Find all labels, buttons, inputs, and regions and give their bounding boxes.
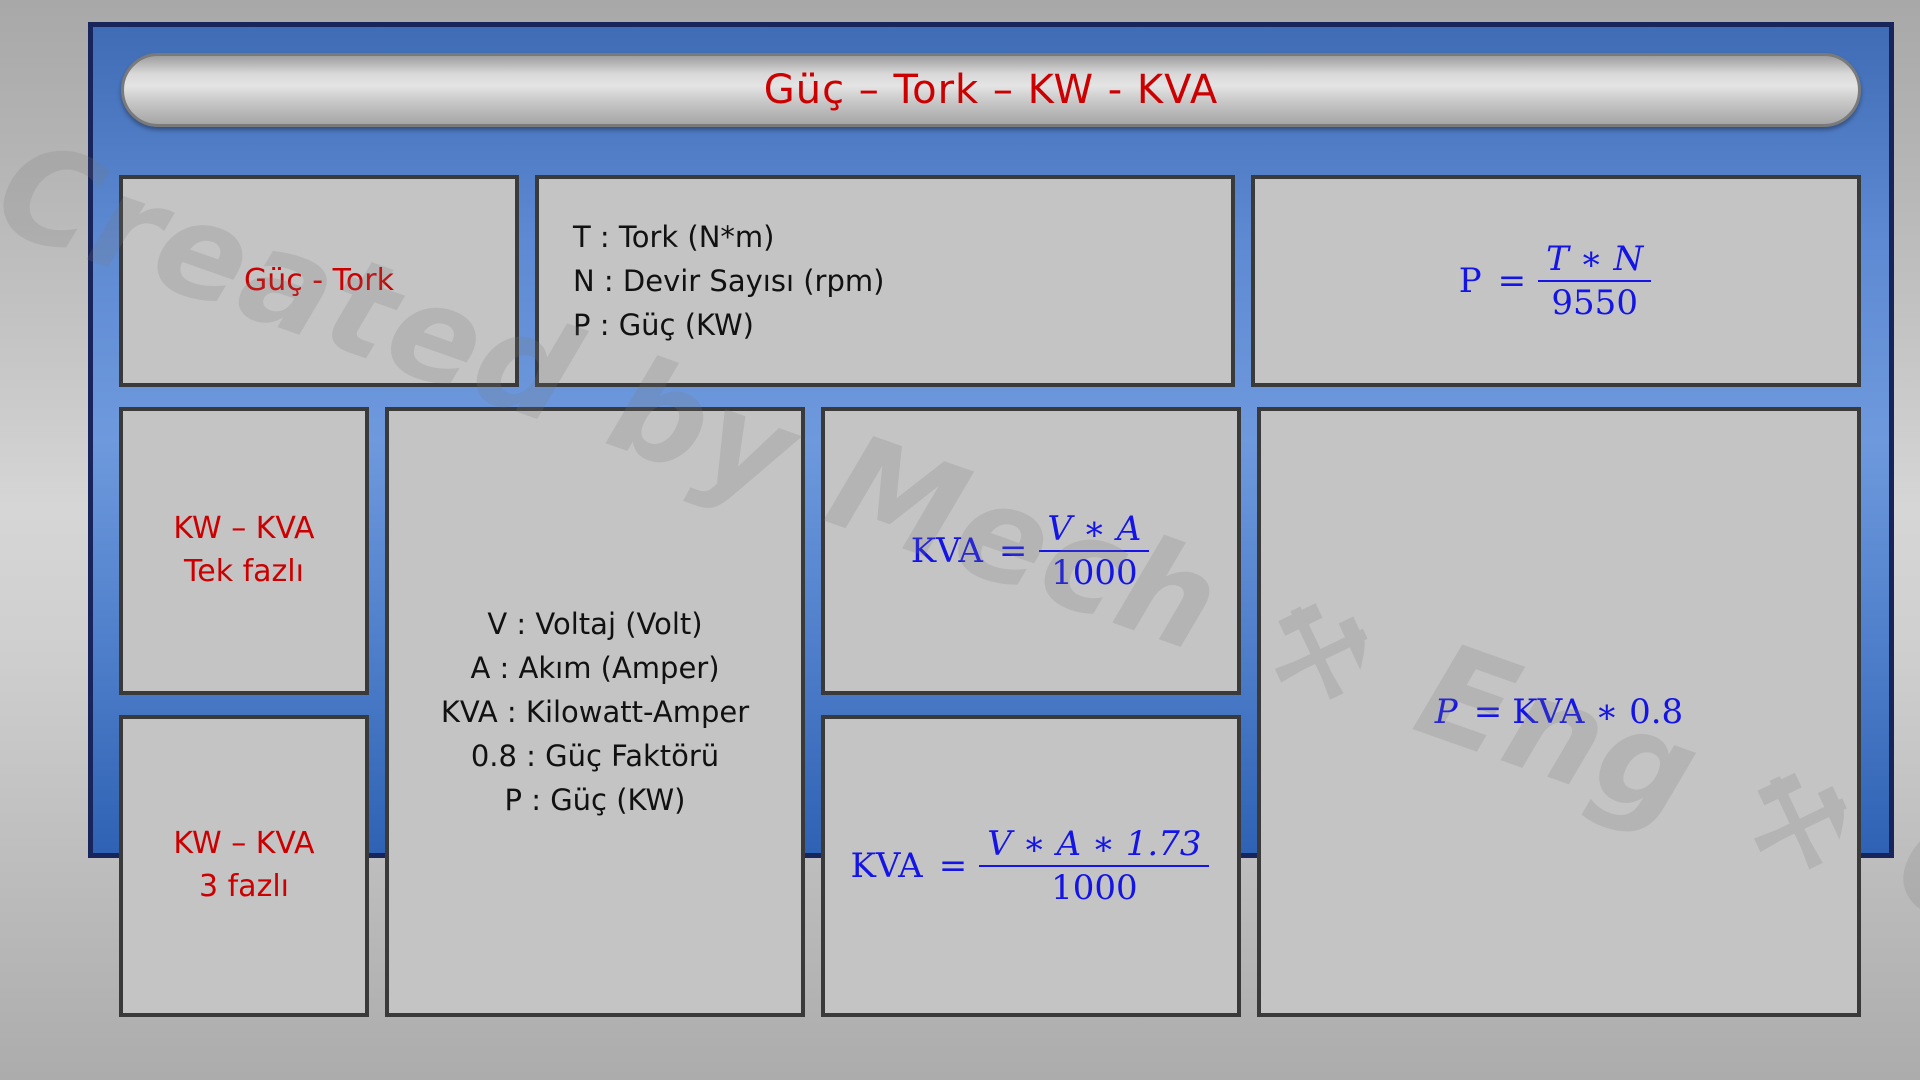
single-phase-formula-box: KVA = V ∗ A 1000 bbox=[821, 407, 1241, 695]
electrical-definition-item: KVA : Kilowatt-Amper bbox=[399, 690, 791, 734]
single-phase-formula-fraction: V ∗ A 1000 bbox=[1039, 510, 1149, 592]
torque-definition-item: T : Tork (N*m) bbox=[549, 215, 1221, 259]
electrical-definition-item: V : Voltaj (Volt) bbox=[399, 602, 791, 646]
single-phase-formula-lhs: KVA bbox=[911, 531, 989, 571]
single-phase-label-box: KW – KVA Tek fazlı bbox=[119, 407, 369, 695]
three-phase-label-line2: 3 fazlı bbox=[133, 866, 355, 909]
torque-formula-equals: = bbox=[1488, 261, 1537, 301]
three-phase-label-box: KW – KVA 3 fazlı bbox=[119, 715, 369, 1017]
torque-formula-numerator: T ∗ N bbox=[1538, 240, 1651, 282]
three-phase-label-line1: KW – KVA bbox=[133, 823, 355, 866]
single-phase-formula-equals: = bbox=[989, 531, 1038, 571]
torque-formula-lhs: P bbox=[1459, 261, 1488, 301]
electrical-definition-item: P : Güç (KW) bbox=[399, 778, 791, 822]
single-phase-label-line2: Tek fazlı bbox=[133, 551, 355, 594]
diagram-frame: Güç – Tork – KW - KVA Güç - Tork T : Tor… bbox=[88, 22, 1894, 858]
title-banner: Güç – Tork – KW - KVA bbox=[121, 53, 1861, 127]
torque-formula-box: P = T ∗ N 9550 bbox=[1251, 175, 1861, 387]
page-title: Güç – Tork – KW - KVA bbox=[764, 67, 1219, 113]
single-phase-formula-denominator: 1000 bbox=[1043, 552, 1146, 592]
torque-formula: P = T ∗ N 9550 bbox=[1459, 240, 1654, 322]
torque-definitions-box: T : Tork (N*m) N : Devir Sayısı (rpm) P … bbox=[535, 175, 1235, 387]
three-phase-formula: KVA = V ∗ A ∗ 1.73 1000 bbox=[851, 825, 1212, 907]
power-formula-box: P = KVA ∗ 0.8 bbox=[1257, 407, 1861, 1017]
torque-definition-item: N : Devir Sayısı (rpm) bbox=[549, 259, 1221, 303]
power-formula-equals: = bbox=[1464, 692, 1513, 732]
three-phase-formula-fraction: V ∗ A ∗ 1.73 1000 bbox=[979, 825, 1209, 907]
single-phase-label-line1: KW – KVA bbox=[133, 508, 355, 551]
torque-section-label-box: Güç - Tork bbox=[119, 175, 519, 387]
power-formula: P = KVA ∗ 0.8 bbox=[1435, 692, 1683, 732]
electrical-definition-item: A : Akım (Amper) bbox=[399, 646, 791, 690]
electrical-definition-item: 0.8 : Güç Faktörü bbox=[399, 734, 791, 778]
three-phase-formula-denominator: 1000 bbox=[1043, 867, 1146, 907]
single-phase-formula: KVA = V ∗ A 1000 bbox=[911, 510, 1152, 592]
torque-formula-denominator: 9550 bbox=[1543, 282, 1646, 322]
electrical-definitions-box: V : Voltaj (Volt) A : Akım (Amper) KVA :… bbox=[385, 407, 805, 1017]
torque-section-label: Güç - Tork bbox=[133, 260, 505, 303]
torque-formula-fraction: T ∗ N 9550 bbox=[1538, 240, 1651, 322]
power-formula-lhs: P bbox=[1435, 692, 1464, 732]
single-phase-formula-numerator: V ∗ A bbox=[1039, 510, 1149, 552]
three-phase-formula-numerator: V ∗ A ∗ 1.73 bbox=[979, 825, 1209, 867]
three-phase-formula-lhs: KVA bbox=[851, 846, 929, 886]
torque-definition-item: P : Güç (KW) bbox=[549, 303, 1221, 347]
three-phase-formula-equals: = bbox=[929, 846, 978, 886]
three-phase-formula-box: KVA = V ∗ A ∗ 1.73 1000 bbox=[821, 715, 1241, 1017]
power-formula-rhs: KVA ∗ 0.8 bbox=[1512, 692, 1683, 732]
